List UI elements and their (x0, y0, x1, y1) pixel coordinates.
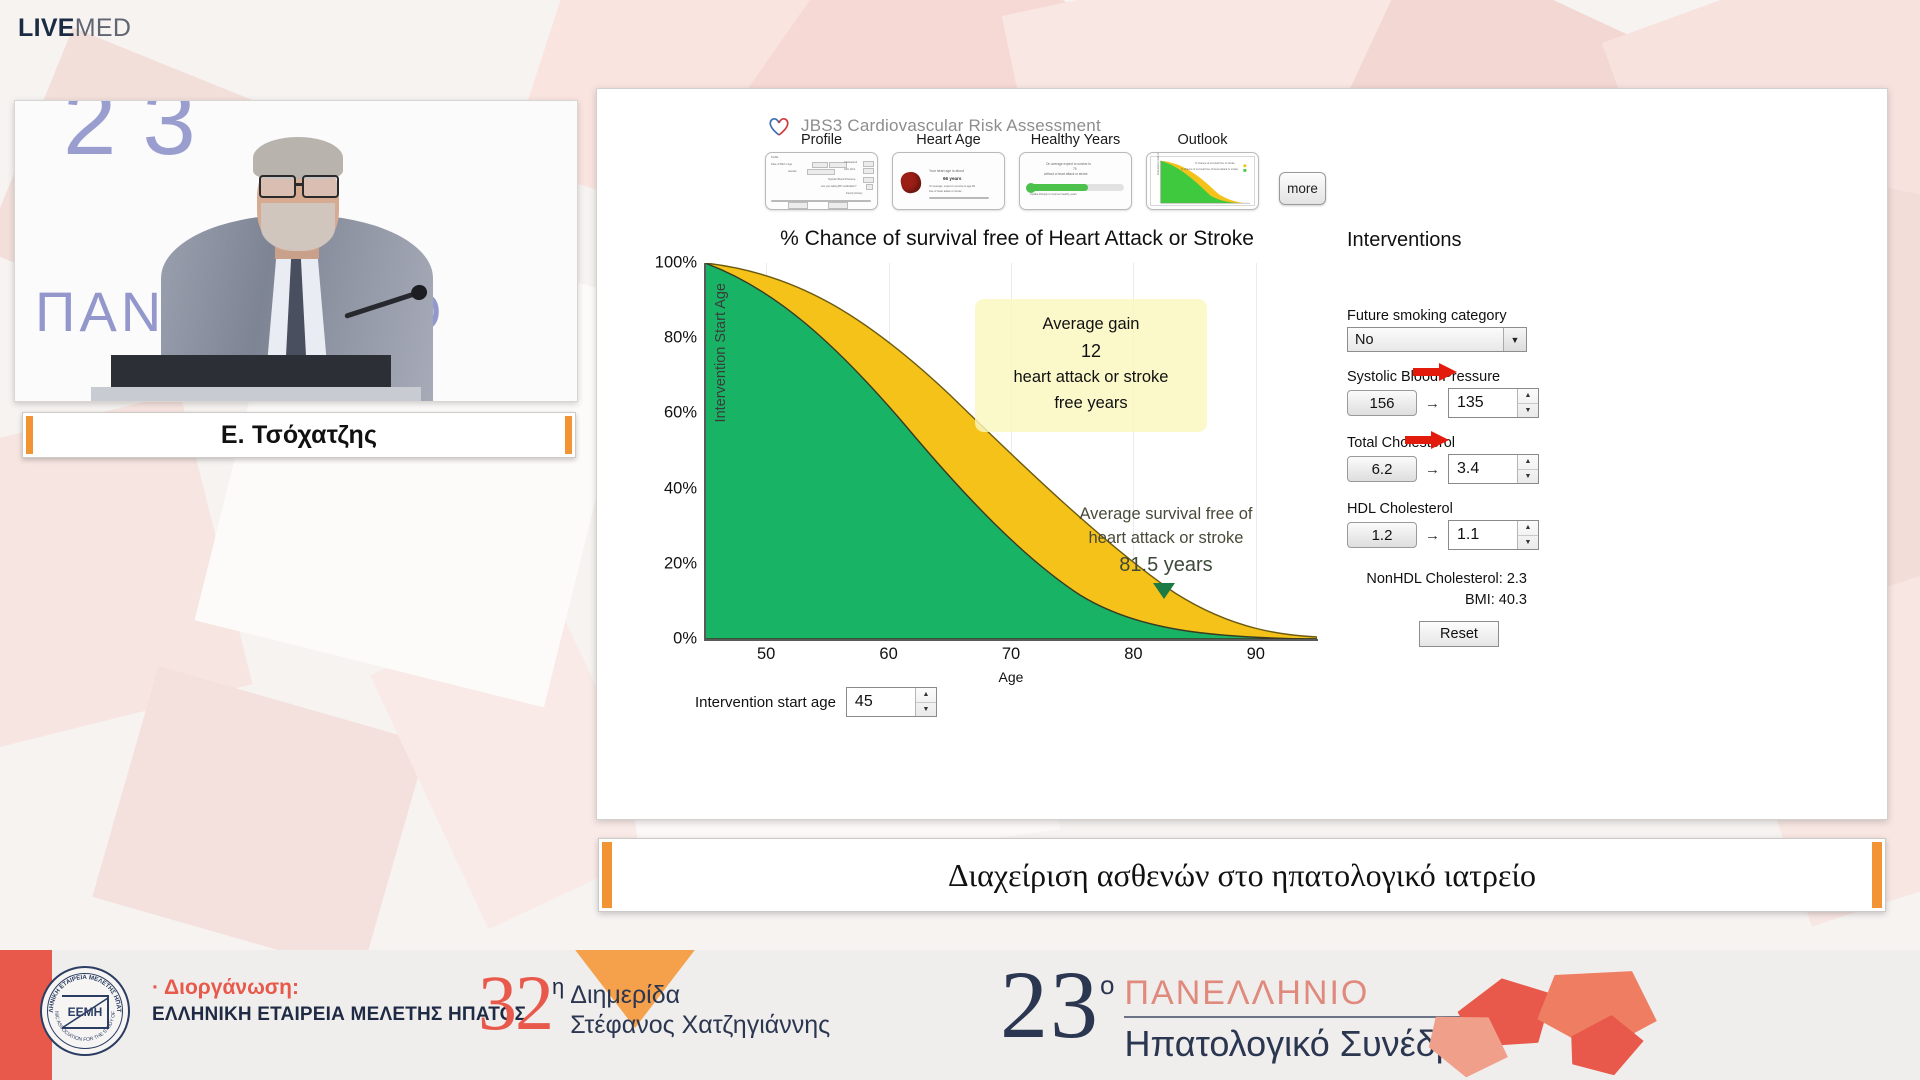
logo-med: MED (75, 14, 131, 42)
x-tick-80: 80 (1124, 645, 1142, 664)
heart-age-thumbnail[interactable]: Your heart age is about 66 years On aver… (892, 152, 1005, 210)
heart-age-line2: 66 years (943, 176, 961, 181)
event-32-line1: Διημερίδα (570, 980, 830, 1010)
tab-outlook-label: Outlook (1178, 132, 1228, 148)
hdl-arrow: → (1425, 527, 1440, 544)
event-23-block: 23 ο ΠΑΝΕΛΛΗΝΙΟ Ηπατολογικό Συνέδριο (1000, 962, 1484, 1065)
conference-footer: ΕΛΛΗΝΙΚΗ ΕΤΑΙΡΕΙΑ ΜΕΛΕΤΗΣ ΗΠΑΤΟΣ HELLENI… (0, 950, 1920, 1080)
organizer-prefix: · Διοργάνωση: (152, 976, 526, 1000)
x-tick-90: 90 (1247, 645, 1265, 664)
bmi-readout: BMI: 40.3 (1347, 592, 1527, 608)
smoking-value: No (1348, 332, 1374, 348)
intervention-start-age-control: Intervention start age 45 ▲ ▼ (695, 687, 937, 717)
eemh-logo: ΕΛΛΗΝΙΚΗ ΕΤΑΙΡΕΙΑ ΜΕΛΕΤΗΣ ΗΠΑΤΟΣ HELLENI… (40, 966, 130, 1056)
eemh-logo-text: EEMH (68, 1005, 103, 1019)
event-23-sup: ο (1100, 970, 1114, 1001)
y-tick-80: 80% (664, 329, 697, 348)
sbp-arrows[interactable]: ▲ ▼ (1517, 389, 1538, 417)
y-tick-60: 60% (664, 404, 697, 423)
speaker-name: Ε. Τσόχατζης (221, 421, 377, 450)
sbp-down-icon[interactable]: ▼ (1518, 404, 1538, 418)
liver-logo-icon (1420, 960, 1680, 1080)
hdl-arrows[interactable]: ▲ ▼ (1517, 521, 1538, 549)
profile-thumbnail[interactable]: Profile Date of Birth / Age Gender Chole… (765, 152, 878, 210)
tc-up-icon[interactable]: ▲ (1518, 455, 1538, 470)
chart-title: % Chance of survival free of Heart Attac… (697, 227, 1337, 251)
podium-base (91, 387, 421, 401)
heart-icon (899, 170, 923, 195)
event-32-number: 32 (478, 966, 552, 1040)
callout-line4: free years (983, 391, 1199, 417)
event-32-block: 32 η Διημερίδα Στέφανος Χατζηγιάννης (478, 966, 830, 1040)
annot-years: 81.5 years (1041, 551, 1291, 580)
x-tick-50: 50 (757, 645, 775, 664)
tc-current: 6.2 (1347, 456, 1417, 482)
outlook-thumbnail[interactable]: % chance of survival free of stroke % ch… (1146, 152, 1259, 210)
healthy-line3: without a heart attack or stroke (1044, 172, 1088, 176)
hdl-current: 1.2 (1347, 522, 1417, 548)
smoking-select[interactable]: No ▼ (1347, 327, 1527, 352)
start-age-stepper[interactable]: 45 ▲ ▼ (846, 687, 937, 717)
tab-profile-label: Profile (801, 132, 842, 148)
smoking-label: Future smoking category (1347, 308, 1577, 324)
sbp-label: Systolic Blood Pressure (1347, 369, 1577, 385)
interventions-heading: Interventions (1347, 229, 1577, 252)
start-age-down-icon[interactable]: ▼ (916, 703, 936, 717)
organizer-block: · Διοργάνωση: ΕΛΛΗΝΙΚΗ ΕΤΑΙΡΕΙΑ ΜΕΛΕΤΗΣ … (152, 976, 526, 1026)
y-tick-40: 40% (664, 479, 697, 498)
tc-arrow: → (1425, 461, 1440, 478)
tc-arrows[interactable]: ▲ ▼ (1517, 455, 1538, 483)
callout-line3: heart attack or stroke (983, 365, 1199, 391)
tab-outlook[interactable]: Outlook % chance of survival free of str… (1146, 132, 1259, 210)
interventions-panel: Interventions Future smoking category No… (1347, 229, 1577, 647)
tc-stepper[interactable]: 3.4 ▲ ▼ (1448, 454, 1539, 484)
reset-button[interactable]: Reset (1419, 621, 1499, 647)
chevron-down-icon[interactable]: ▼ (1503, 328, 1526, 351)
survival-chart: 100% 80% 60% 40% 20% 0% Intervention Sta… (705, 263, 1317, 639)
hdl-down-icon[interactable]: ▼ (1518, 536, 1538, 550)
nonhdl-readout: NonHDL Cholesterol: 2.3 (1347, 571, 1527, 587)
start-age-up-icon[interactable]: ▲ (916, 688, 936, 703)
event-32-sup: η (552, 974, 564, 1000)
start-age-label: Intervention start age (695, 694, 836, 711)
y-tick-100: 100% (655, 254, 697, 273)
more-button[interactable]: more (1279, 172, 1326, 205)
x-tick-60: 60 (879, 645, 897, 664)
healthy-years-thumbnail[interactable]: On average expect to survive to 75 witho… (1019, 152, 1132, 210)
video-frame: 23 ΠΑΝΕΛΛΗΝΙΟ Ηπ κό Σ (15, 101, 577, 401)
callout-value: 12 (983, 338, 1199, 366)
y-tick-20: 20% (664, 554, 697, 573)
heart-age-line1: Your heart age is about (929, 169, 964, 173)
glasses-icon (257, 175, 341, 195)
y-axis-ticks: 100% 80% 60% 40% 20% 0% (649, 263, 705, 639)
livemed-logo: LIVEMED (18, 14, 131, 43)
y-axis-label: Intervention Start Age (713, 283, 729, 422)
organizer-name: ΕΛΛΗΝΙΚΗ ΕΤΑΙΡΕΙΑ ΜΕΛΕΤΗΣ ΗΠΑΤΟΣ (152, 1004, 526, 1026)
annot-line2: heart attack or stroke (1041, 527, 1291, 551)
red-arrow-tc-icon (1405, 431, 1449, 449)
sbp-current: 156 (1347, 390, 1417, 416)
start-age-value[interactable]: 45 (847, 688, 915, 716)
event-32-line2: Στέφανος Χατζηγιάννης (570, 1010, 830, 1040)
presentation-slide: JBS3 Cardiovascular Risk Assessment Prof… (596, 88, 1888, 820)
y-tick-0: 0% (673, 630, 697, 649)
speaker-video[interactable]: 23 ΠΑΝΕΛΛΗΝΙΟ Ηπ κό Σ (14, 100, 578, 402)
hdl-up-icon[interactable]: ▲ (1518, 521, 1538, 536)
tab-profile[interactable]: Profile Profile Date of Birth / Age Gend… (765, 132, 878, 210)
hdl-stepper[interactable]: 1.1 ▲ ▼ (1448, 520, 1539, 550)
average-gain-callout: Average gain 12 heart attack or stroke f… (975, 299, 1207, 432)
healthy-line1: On average expect to survive to (1046, 162, 1091, 166)
sbp-target[interactable]: 135 (1449, 389, 1517, 417)
healthy-line2: 75 (1073, 167, 1077, 171)
sbp-stepper[interactable]: 135 ▲ ▼ (1448, 388, 1539, 418)
tc-down-icon[interactable]: ▼ (1518, 470, 1538, 484)
tab-healthy-years[interactable]: Healthy Years On average expect to survi… (1019, 132, 1132, 210)
x-axis-label: Age (705, 669, 1317, 685)
tab-heart-age[interactable]: Heart Age Your heart age is about 66 yea… (892, 132, 1005, 210)
tc-target[interactable]: 3.4 (1449, 455, 1517, 483)
logo-live: LIVE (18, 14, 75, 42)
start-age-arrows[interactable]: ▲ ▼ (915, 688, 936, 716)
slide-title: Διαχείριση ασθενών στο ηπατολογικό ιατρε… (948, 857, 1536, 894)
speaker-name-banner: Ε. Τσόχατζης (22, 412, 576, 458)
tc-label: Total Cholesterol (1347, 435, 1577, 451)
x-tick-70: 70 (1002, 645, 1020, 664)
survival-marker-triangle (1153, 583, 1175, 599)
sbp-up-icon[interactable]: ▲ (1518, 389, 1538, 404)
tab-heart-age-label: Heart Age (916, 132, 981, 148)
event-23-number: 23 (1000, 962, 1100, 1048)
tab-thumbnails: Profile Profile Date of Birth / Age Gend… (765, 132, 1326, 210)
hdl-target[interactable]: 1.1 (1449, 521, 1517, 549)
slide-title-banner: Διαχείριση ασθενών στο ηπατολογικό ιατρε… (598, 838, 1886, 912)
annot-line1: Average survival free of (1041, 503, 1291, 527)
hdl-label: HDL Cholesterol (1347, 501, 1577, 517)
callout-line1: Average gain (983, 312, 1199, 338)
eemh-logo-rings: ΕΛΛΗΝΙΚΗ ΕΤΑΙΡΕΙΑ ΜΕΛΕΤΗΣ ΗΠΑΤΟΣ HELLENI… (42, 968, 128, 1054)
sbp-arrow: → (1425, 395, 1440, 412)
healthy-years-slider[interactable] (1027, 184, 1124, 191)
red-arrow-sbp-icon (1413, 363, 1457, 381)
average-survival-annotation: Average survival free of heart attack or… (1041, 503, 1291, 580)
tab-healthy-years-label: Healthy Years (1031, 132, 1120, 148)
